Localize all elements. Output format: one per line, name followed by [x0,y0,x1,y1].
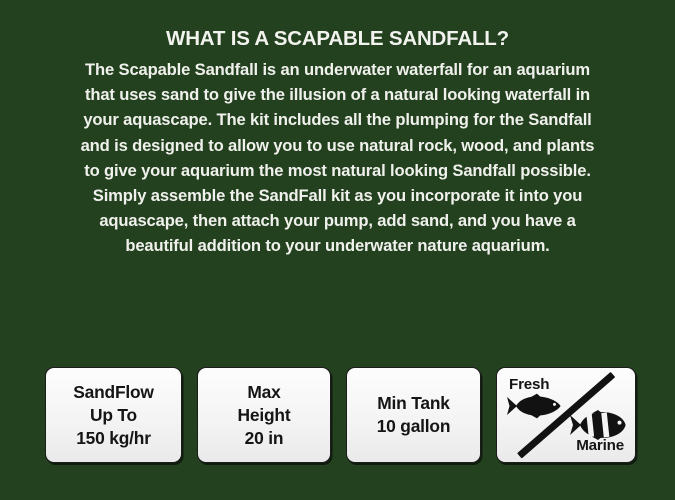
badge-min-tank-line-2: 10 gallon [377,415,451,438]
page-title: WHAT IS A SCAPABLE SANDFALL? [0,28,675,51]
description-line: and is designed to allow you to use natu… [0,133,675,158]
water-type-content: Fresh [497,368,635,462]
spec-badge-row: SandFlow Up To 150 kg/hr Max Height 20 i… [45,367,636,463]
marine-water-label: Marine [576,434,624,457]
badge-max-height-line-3: 20 in [245,427,284,450]
description-line: Simply assemble the SandFall kit as you … [0,183,675,208]
badge-sandflow-line-1: SandFlow [73,381,154,404]
description-paragraph: The Scapable Sandfall is an underwater w… [0,57,675,259]
badge-max-height: Max Height 20 in [197,367,331,463]
description-line: that uses sand to give the illusion of a… [0,82,675,107]
badge-max-height-line-2: Height [238,404,291,427]
freshwater-fish-icon [507,393,561,419]
description-line: The Scapable Sandfall is an underwater w… [0,57,675,82]
badge-min-tank: Min Tank 10 gallon [346,367,481,463]
badge-sandflow-line-3: 150 kg/hr [76,427,151,450]
description-line: aquascape, then attach your pump, add sa… [0,208,675,233]
badge-sandflow-line-2: Up To [90,404,137,427]
badge-sandflow: SandFlow Up To 150 kg/hr [45,367,182,463]
badge-max-height-line-1: Max [247,381,280,404]
badge-min-tank-line-1: Min Tank [377,392,449,415]
description-line: to give your aquarium the most natural l… [0,158,675,183]
sandfall-info-panel: WHAT IS A SCAPABLE SANDFALL? The Scapabl… [0,0,675,500]
description-line: beautiful addition to your underwater na… [0,233,675,258]
badge-water-type: Fresh [496,367,636,463]
description-line: your aquascape. The kit includes all the… [0,107,675,132]
